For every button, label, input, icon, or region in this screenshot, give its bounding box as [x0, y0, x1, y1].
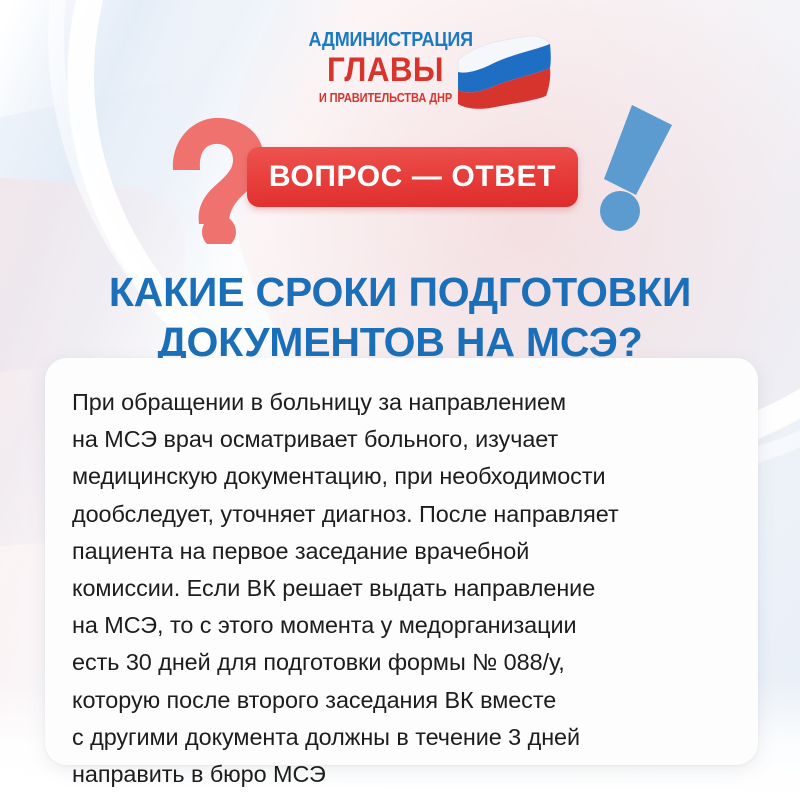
answer-line: на МСЭ, то с этого момента у медорганиза… — [72, 607, 728, 644]
logo-line-government: И ПРАВИТЕЛЬСТВА ДНР — [311, 91, 460, 104]
answer-line: на МСЭ врач осматривает больного, изучае… — [72, 421, 728, 458]
banner-label: ВОПРОС — ОТВЕТ — [269, 160, 556, 194]
page-title: КАКИЕ СРОКИ ПОДГОТОВКИ ДОКУМЕНТОВ НА МСЭ… — [40, 267, 760, 367]
answer-line: пациента на первое заседание врачебной — [72, 533, 728, 570]
answer-line: комиссии. Если ВК решает выдать направле… — [72, 570, 728, 607]
answer-line: есть 30 дней для подготовки формы № 088/… — [72, 644, 728, 681]
answer-text: При обращении в больницу за направлением… — [72, 384, 728, 793]
answer-line: При обращении в больницу за направлением — [72, 384, 728, 421]
answer-line: которую после второго заседания ВК вмест… — [72, 682, 728, 719]
organization-logo: АДМИНИСТРАЦИЯ ГЛАВЫ И ПРАВИТЕЛЬСТВА ДНР — [298, 30, 548, 122]
logo-line-administration: АДМИНИСТРАЦИЯ — [309, 30, 463, 51]
answer-line: дообследует, уточняет диагноз. После нап… — [72, 496, 728, 533]
russian-flag-icon — [456, 34, 552, 110]
question-answer-banner: ВОПРОС — ОТВЕТ — [247, 147, 578, 207]
logo-line-head: ГЛАВЫ — [305, 53, 466, 88]
answer-line: направить в бюро МСЭ — [72, 756, 728, 793]
poster-canvas: АДМИНИСТРАЦИЯ ГЛАВЫ И ПРАВИТЕЛЬСТВА ДНР … — [0, 0, 800, 800]
answer-line: медицинскую документацию, при необходимо… — [72, 458, 728, 495]
exclamation-mark-icon — [586, 103, 696, 231]
page-title-line-1: КАКИЕ СРОКИ ПОДГОТОВКИ — [40, 267, 760, 317]
logo-wordmark: АДМИНИСТРАЦИЯ ГЛАВЫ И ПРАВИТЕЛЬСТВА ДНР — [298, 30, 473, 104]
answer-card: При обращении в больницу за направлением… — [45, 358, 758, 765]
answer-line: с другими документа должны в течение 3 д… — [72, 719, 728, 756]
